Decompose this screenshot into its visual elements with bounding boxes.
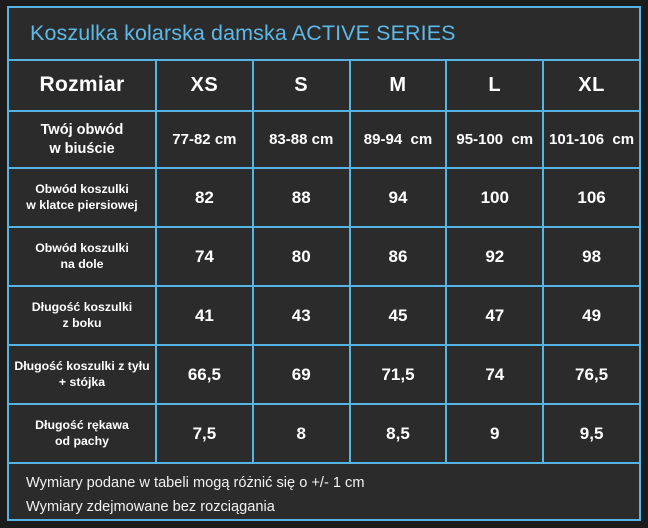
cell-side-length-xs: 41 <box>157 287 254 344</box>
cell-chest-s: 88 <box>254 169 351 226</box>
header-size-m: M <box>351 61 448 110</box>
cell-sleeve-xl: 9,5 <box>544 405 639 462</box>
cell-bottom-m: 86 <box>351 228 448 285</box>
footer-note-measuring: Wymiary zdejmowane bez rozciągania <box>26 496 639 520</box>
footer-note-tolerance: Wymiary podane w tabeli mogą różnić się … <box>26 472 639 496</box>
cell-back-length-m: 71,5 <box>351 346 448 403</box>
cell-chest-l: 100 <box>447 169 544 226</box>
cell-bottom-xs: 74 <box>157 228 254 285</box>
table-header-row: Rozmiar XS S M L XL <box>9 61 639 112</box>
row-label-back-length: Długość koszulki z tyłu + stójka <box>9 346 157 403</box>
row-label-bottom: Obwód koszulki na dole <box>9 228 157 285</box>
header-size-s: S <box>254 61 351 110</box>
row-label-sleeve: Długość rękawa od pachy <box>9 405 157 462</box>
cell-bust-m: 89-94 cm <box>351 112 448 167</box>
cell-chest-m: 94 <box>351 169 448 226</box>
table-row: Obwód koszulki w klatce piersiowej 82 88… <box>9 169 639 228</box>
table-row: Długość koszulki z boku 41 43 45 47 49 <box>9 287 639 346</box>
cell-chest-xs: 82 <box>157 169 254 226</box>
cell-side-length-s: 43 <box>254 287 351 344</box>
cell-side-length-l: 47 <box>447 287 544 344</box>
cell-sleeve-m: 8,5 <box>351 405 448 462</box>
row-label-bust: Twój obwód w biuście <box>9 112 157 167</box>
cell-bottom-l: 92 <box>447 228 544 285</box>
cell-bottom-s: 80 <box>254 228 351 285</box>
page-title: Koszulka kolarska damska ACTIVE SERIES <box>30 21 456 46</box>
cell-side-length-m: 45 <box>351 287 448 344</box>
header-size-xl: XL <box>544 61 639 110</box>
cell-side-length-xl: 49 <box>544 287 639 344</box>
header-size-xs: XS <box>157 61 254 110</box>
cell-back-length-xl: 76,5 <box>544 346 639 403</box>
cell-back-length-xs: 66,5 <box>157 346 254 403</box>
cell-chest-xl: 106 <box>544 169 639 226</box>
cell-back-length-s: 69 <box>254 346 351 403</box>
cell-bust-s: 83-88 cm <box>254 112 351 167</box>
cell-back-length-l: 74 <box>447 346 544 403</box>
cell-sleeve-xs: 7,5 <box>157 405 254 462</box>
chart-title-row: Koszulka kolarska damska ACTIVE SERIES <box>9 8 639 61</box>
footer-notes: Wymiary podane w tabeli mogą różnić się … <box>9 464 639 524</box>
cell-sleeve-s: 8 <box>254 405 351 462</box>
table-row: Obwód koszulki na dole 74 80 86 92 98 <box>9 228 639 287</box>
size-table: Rozmiar XS S M L XL Twój obwód w biuście… <box>9 61 639 464</box>
table-row: Długość koszulki z tyłu + stójka 66,5 69… <box>9 346 639 405</box>
size-chart: Koszulka kolarska damska ACTIVE SERIES R… <box>0 0 648 528</box>
cell-bottom-xl: 98 <box>544 228 639 285</box>
cell-bust-xl: 101-106 cm <box>544 112 639 167</box>
cell-sleeve-l: 9 <box>447 405 544 462</box>
header-size-l: L <box>447 61 544 110</box>
size-chart-frame: Koszulka kolarska damska ACTIVE SERIES R… <box>7 6 641 521</box>
table-row: Długość rękawa od pachy 7,5 8 8,5 9 9,5 <box>9 405 639 464</box>
row-label-side-length: Długość koszulki z boku <box>9 287 157 344</box>
header-label-cell: Rozmiar <box>9 61 157 110</box>
row-label-chest: Obwód koszulki w klatce piersiowej <box>9 169 157 226</box>
cell-bust-l: 95-100 cm <box>447 112 544 167</box>
table-row: Twój obwód w biuście 77-82 cm 83-88 cm 8… <box>9 112 639 169</box>
cell-bust-xs: 77-82 cm <box>157 112 254 167</box>
